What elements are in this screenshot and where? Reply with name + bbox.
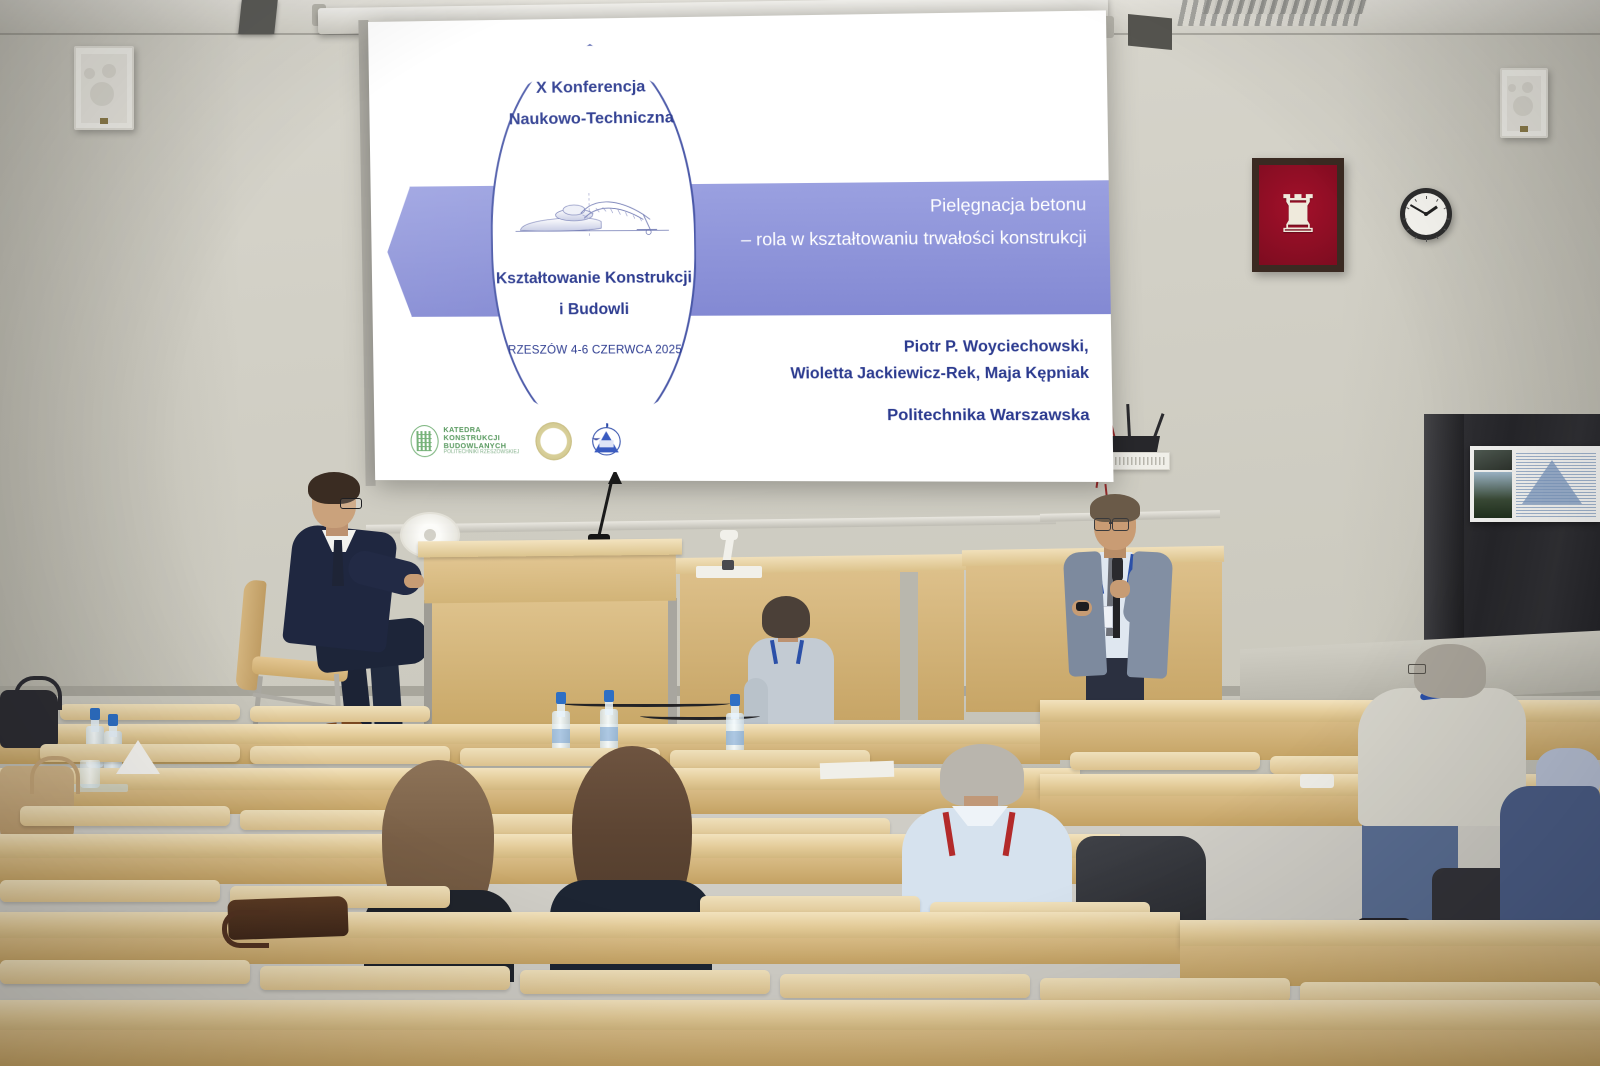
document-camera-head [720, 530, 738, 540]
slide-authors-line-1: Piotr P. Woyciechowski, [700, 333, 1089, 361]
tier-front-panel [0, 1030, 1600, 1066]
emblem-line-3: Kształtowanie Konstrukcji [494, 269, 695, 288]
tier-desk [1180, 920, 1600, 946]
seat-back[interactable] [1040, 978, 1290, 1002]
chairman-hand [404, 574, 424, 588]
black-backpack-strap [14, 676, 62, 710]
seat-back[interactable] [250, 706, 430, 722]
slide-authors: Piotr P. Woyciechowski, Wioletta Jackiew… [700, 333, 1089, 388]
structure-illustration-icon [508, 163, 678, 266]
tan-handbag-strap [30, 756, 80, 794]
podium-top [418, 539, 682, 558]
pzitb-circular-logo [535, 422, 572, 460]
seat-back[interactable] [520, 970, 770, 994]
document-camera-knob[interactable] [722, 560, 734, 570]
polish-eagle-emblem: ♜ [1252, 158, 1344, 272]
presenter-glasses-right-icon [1112, 518, 1129, 531]
mobile-phone[interactable] [1300, 774, 1334, 788]
paper-sheet [820, 761, 895, 780]
slide-authors-line-2: Wioletta Jackiewicz-Rek, Maja Kępniak [700, 361, 1089, 389]
kkb-line-4: POLITECHNIKI RZESZOWSKIEJ [444, 451, 520, 457]
tier-desk [0, 1000, 1600, 1030]
tier-desk [0, 912, 1180, 938]
brown-leather-bag-strap [222, 910, 269, 948]
audience-front-hair [762, 596, 810, 638]
lectern-desk-gap [900, 572, 918, 720]
ceiling-mount-bracket-right [1128, 14, 1172, 50]
emblem-line-2: Naukowo-Techniczna [491, 110, 692, 131]
seating-tier-3 [0, 880, 1180, 964]
eagle-glyph: ♜ [1275, 189, 1322, 241]
seat-back[interactable] [1070, 752, 1260, 770]
presenter-glasses-bridge [1109, 522, 1113, 524]
ceiling-mount-bracket-left [238, 0, 278, 34]
podium-body [424, 553, 676, 604]
emblem-line-1: X Konferencja [491, 78, 692, 99]
emblem-line-5: RZESZÓW 4-6 CZERWCA 2025 [495, 344, 696, 357]
seat-back[interactable] [0, 880, 220, 902]
presenter-glasses-left-icon [1094, 518, 1111, 531]
emblem-line-4: i Budowli [494, 301, 695, 320]
slide-logo-row: KATEDRA KONSTRUKCJI BUDOWLANYCH POLITECH… [410, 409, 702, 474]
lecture-hall-photo: ♜ [0, 0, 1600, 1066]
tier-desk [0, 768, 1080, 790]
slide-title-line-1: Pielęgnacja betonu [712, 192, 1086, 221]
seat-back[interactable] [250, 746, 450, 764]
chairman-glasses-icon [340, 498, 362, 509]
presentation-clicker[interactable] [1076, 602, 1089, 611]
tier-desk [0, 724, 1060, 744]
audience-right-glasses-icon [1408, 664, 1426, 674]
seat-back[interactable] [260, 966, 510, 990]
seating-tier-1 [0, 744, 1080, 814]
pzitb-oddzial-rzeszow-logo [588, 423, 625, 459]
seat-back[interactable] [780, 974, 1030, 998]
presenter-hand-right [1110, 580, 1130, 598]
projection-screen: X Konferencja Naukowo-Techniczna [368, 10, 1114, 482]
conference-emblem: X Konferencja Naukowo-Techniczna [488, 42, 699, 440]
scientific-poster [1470, 446, 1600, 522]
wall-speaker-right [1500, 68, 1548, 138]
water-bottle[interactable] [600, 690, 618, 752]
seating-tier-4-foreground [0, 960, 1600, 1066]
slide-title: Pielęgnacja betonu – rola w kształtowani… [712, 192, 1087, 253]
slide-affiliation: Politechnika Warszawska [701, 407, 1090, 426]
wall-speaker-left [74, 46, 134, 130]
presenter-microphone-head [1112, 556, 1123, 582]
seat-back[interactable] [0, 960, 250, 984]
katedra-konstrukcji-budowlanych-logo: KATEDRA KONSTRUKCJI BUDOWLANYCH POLITECH… [410, 425, 519, 457]
presentation-slide: X Konferencja Naukowo-Techniczna [368, 10, 1114, 482]
seat-back[interactable] [20, 806, 230, 826]
slide-title-line-2: – rola w kształtowaniu trwałości konstru… [713, 224, 1087, 253]
wall-clock [1400, 188, 1452, 240]
